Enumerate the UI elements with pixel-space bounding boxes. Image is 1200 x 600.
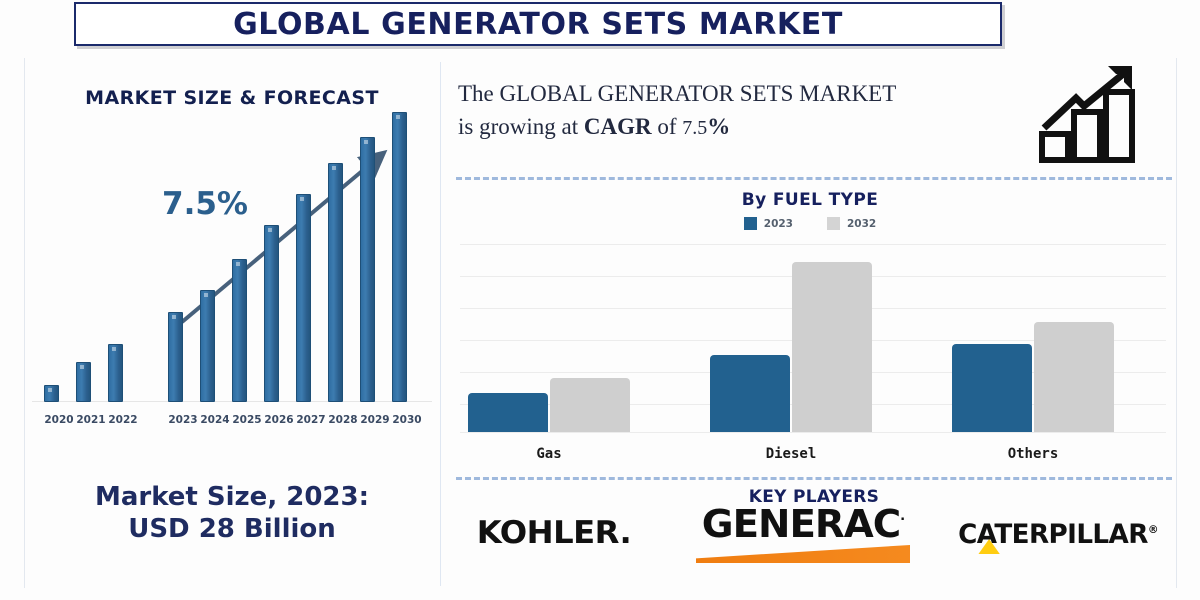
key-players-section: KEY PLAYERS KOHLER. GENERAC· CATERPILLAR… [452, 487, 1176, 582]
market-size-footer-line1: Market Size, 2023: [26, 482, 438, 514]
statement-of: of [652, 114, 683, 139]
fuel-category-others: Others [952, 446, 1114, 462]
legend-label-2032: 2032 [847, 218, 876, 230]
logo-generac: GENERAC· [674, 505, 932, 563]
divider-bottom-dashed [456, 477, 1172, 480]
legend-item-2023: 2023 [744, 217, 793, 230]
bar-chart-growth-icon [1032, 62, 1152, 167]
infographic-page: GLOBAL GENERATOR SETS MARKET MARKET SIZE… [0, 0, 1200, 600]
logo-caterpillar-text: CATERPILLAR [958, 519, 1148, 550]
statement-market-name: GLOBAL GENERATOR SETS MARKET [500, 81, 897, 106]
statement-mid: is growing at [458, 114, 584, 139]
fuel-bar-gas-2023 [468, 393, 548, 432]
legend-label-2023: 2023 [764, 218, 793, 230]
ms-label-2030: 2030 [389, 414, 425, 426]
fuel-group-diesel [710, 272, 900, 432]
ms-label-2028: 2028 [325, 414, 361, 426]
ms-bar-2028 [328, 163, 343, 402]
fuel-category-diesel: Diesel [710, 446, 872, 462]
logo-caterpillar: CATERPILLAR® [944, 519, 1173, 550]
logo-generac-mark: · [900, 512, 904, 527]
ms-label-2021: 2021 [73, 414, 109, 426]
statement-cagr-word: CAGR [584, 114, 652, 139]
ms-label-2026: 2026 [261, 414, 297, 426]
ms-bar-2023 [168, 312, 183, 402]
ms-bar-2027 [296, 194, 311, 402]
right-panel: The GLOBAL GENERATOR SETS MARKET is grow… [452, 62, 1176, 586]
logo-kohler: KOHLER. [450, 515, 658, 551]
ms-label-2029: 2029 [357, 414, 393, 426]
ms-bar-2026 [264, 225, 279, 402]
logo-generac-text: GENERAC [702, 502, 900, 546]
divider-top-dashed [456, 177, 1172, 180]
ms-label-2027: 2027 [293, 414, 329, 426]
page-title: GLOBAL GENERATOR SETS MARKET [233, 7, 843, 42]
logo-generac-text-row: GENERAC· [671, 505, 934, 543]
fuel-bar-gas-2032 [550, 378, 630, 432]
ms-label-2024: 2024 [197, 414, 233, 426]
cagr-callout: 7.5% [162, 186, 248, 222]
ms-bar-2020 [44, 385, 59, 402]
statement-percent: % [707, 114, 730, 139]
ms-label-2022: 2022 [105, 414, 141, 426]
market-size-footer: Market Size, 2023: USD 28 Billion [26, 482, 438, 545]
gridline [460, 244, 1166, 245]
fuel-bar-diesel-2023 [710, 355, 790, 432]
gridline [460, 432, 1166, 433]
logo-kohler-mark: . [620, 515, 632, 551]
market-size-panel: MARKET SIZE & FORECAST 7.5% [26, 62, 438, 586]
logo-caterpillar-mark: ® [1148, 523, 1158, 536]
ms-bar-2025 [232, 259, 247, 402]
fuel-bar-diesel-2032 [792, 262, 872, 432]
ms-label-2020: 2020 [41, 414, 77, 426]
market-size-chart: 7.5% 2020 2021 2022 2023 2024 2025 2026 … [32, 134, 432, 454]
ms-bar-2021 [76, 362, 91, 402]
fuel-category-gas: Gas [468, 446, 630, 462]
fuel-type-chart: Gas Diesel Others [460, 240, 1166, 470]
right-frame-divider [1176, 58, 1177, 588]
ms-label-2023: 2023 [165, 414, 201, 426]
cagr-statement: The GLOBAL GENERATOR SETS MARKET is grow… [458, 78, 1018, 143]
market-size-footer-line2: USD 28 Billion [26, 514, 438, 546]
ms-bar-2030 [392, 112, 407, 402]
ms-bar-2022 [108, 344, 123, 402]
left-frame-divider [24, 58, 25, 588]
ms-bar-2024 [200, 290, 215, 402]
fuel-group-others [952, 272, 1142, 432]
fuel-chart-legend: 2023 2032 [452, 217, 1168, 230]
center-vertical-divider [440, 62, 441, 586]
page-title-box: GLOBAL GENERATOR SETS MARKET [74, 2, 1002, 46]
logo-kohler-text: KOHLER [477, 515, 620, 551]
statement-cagr-value: 7.5 [682, 117, 707, 139]
legend-swatch-2032 [827, 217, 840, 230]
ms-bar-2029 [360, 137, 375, 402]
market-size-heading: MARKET SIZE & FORECAST [26, 87, 438, 109]
legend-swatch-2023 [744, 217, 757, 230]
ms-label-2025: 2025 [229, 414, 265, 426]
fuel-group-gas [468, 272, 658, 432]
legend-item-2032: 2032 [827, 217, 876, 230]
statement-prefix: The [458, 81, 500, 106]
fuel-type-heading: By FUEL TYPE [452, 190, 1168, 210]
fuel-bar-others-2023 [952, 344, 1032, 432]
fuel-bar-others-2032 [1034, 322, 1114, 432]
generac-orange-wedge-icon [696, 545, 910, 563]
